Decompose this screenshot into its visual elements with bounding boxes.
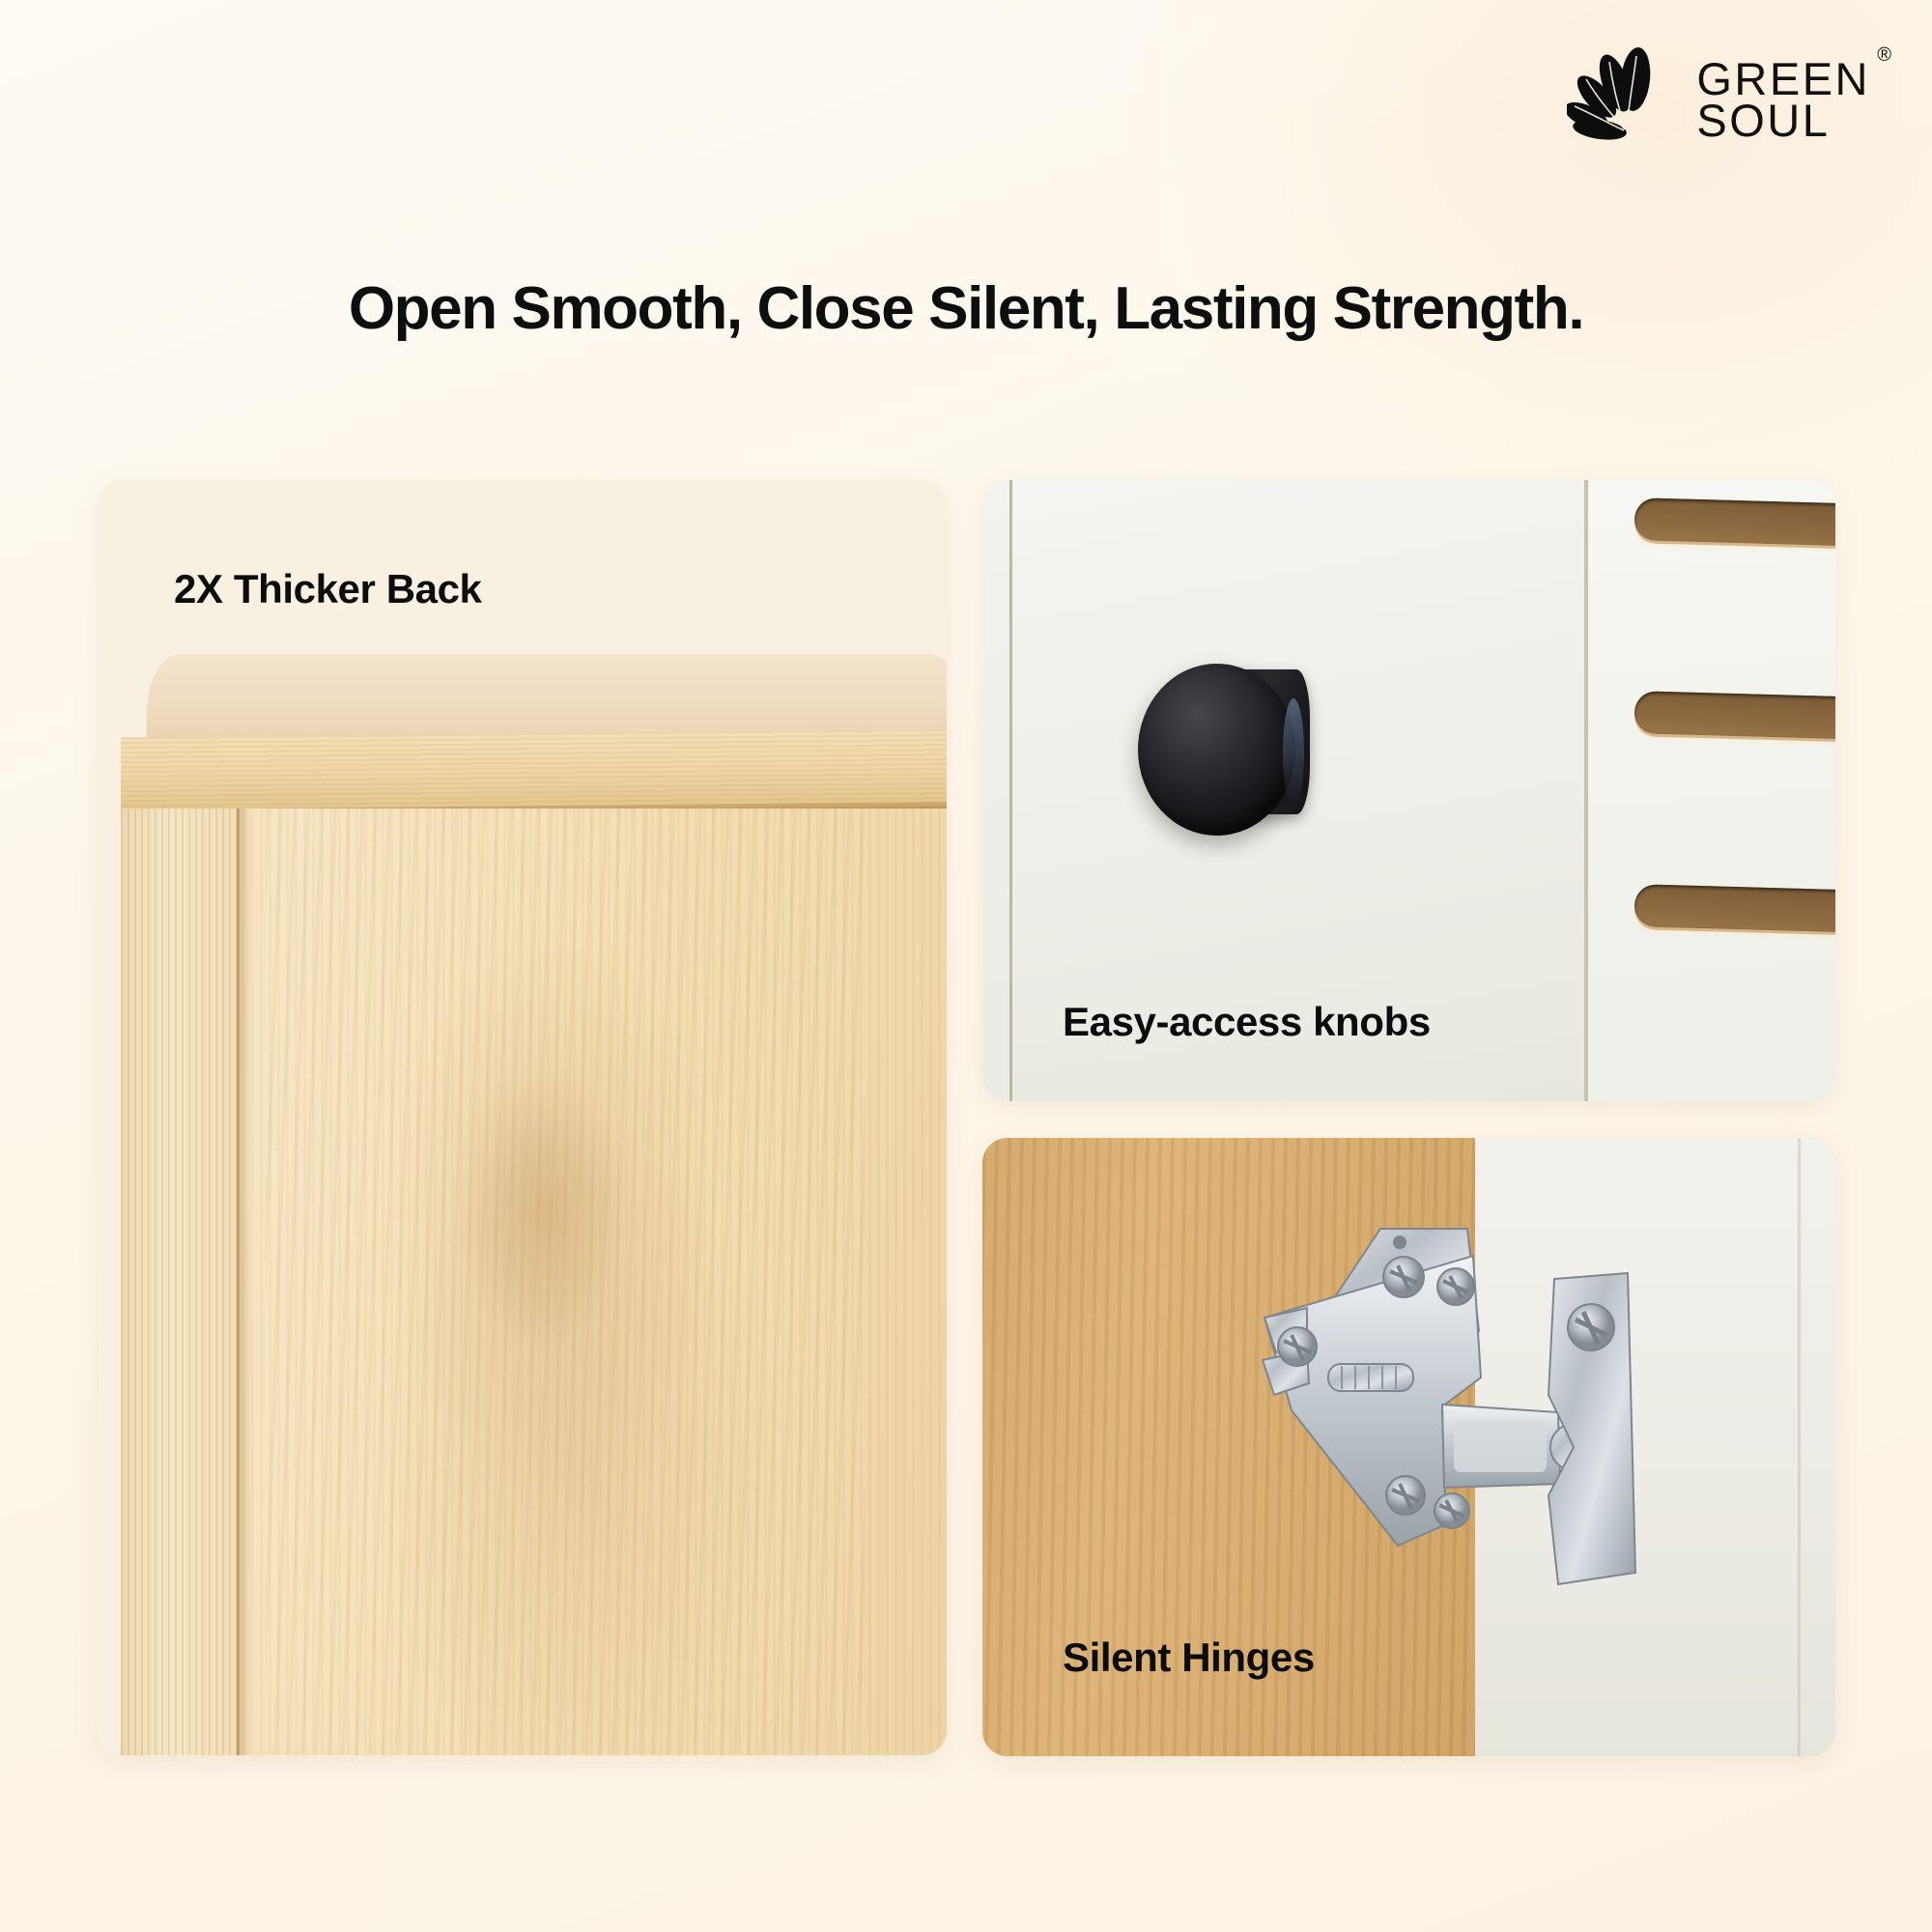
label-thicker-back: 2X Thicker Back <box>174 566 482 612</box>
brand-name-line2: SOUL <box>1696 99 1870 141</box>
wood-grain-texture <box>266 809 865 1755</box>
brand-wordmark: GREEN SOUL ® <box>1696 58 1870 141</box>
label-silent-hinges: Silent Hinges <box>1063 1634 1315 1681</box>
page-title: Open Smooth, Close Silent, Lasting Stren… <box>0 274 1932 343</box>
cabinet-knob <box>1138 664 1317 842</box>
panel-slot <box>1634 884 1835 934</box>
feature-panel-thicker-back <box>97 480 947 1755</box>
panel-slot <box>1634 691 1835 741</box>
promo-canvas: GREEN SOUL ® Open Smooth, Close Silent, … <box>0 0 1932 1932</box>
knob-face <box>1138 664 1295 836</box>
brand-name-line1: GREEN <box>1696 58 1870 99</box>
concealed-hinge-icon <box>1214 1206 1659 1621</box>
panel-slot <box>1634 497 1835 548</box>
brand-logo: GREEN SOUL ® <box>1567 46 1870 153</box>
label-easy-access-knobs: Easy-access knobs <box>1063 999 1431 1045</box>
knob-highlight <box>1283 698 1304 807</box>
registered-trademark-icon: ® <box>1877 46 1891 64</box>
leaf-fan-logo-icon <box>1567 46 1681 153</box>
slotted-side-panel <box>1584 480 1835 1101</box>
cabinet-side-post <box>121 809 240 1755</box>
cabinet-edge-band <box>121 729 947 818</box>
cabinet-inner-shadow <box>237 809 252 1755</box>
